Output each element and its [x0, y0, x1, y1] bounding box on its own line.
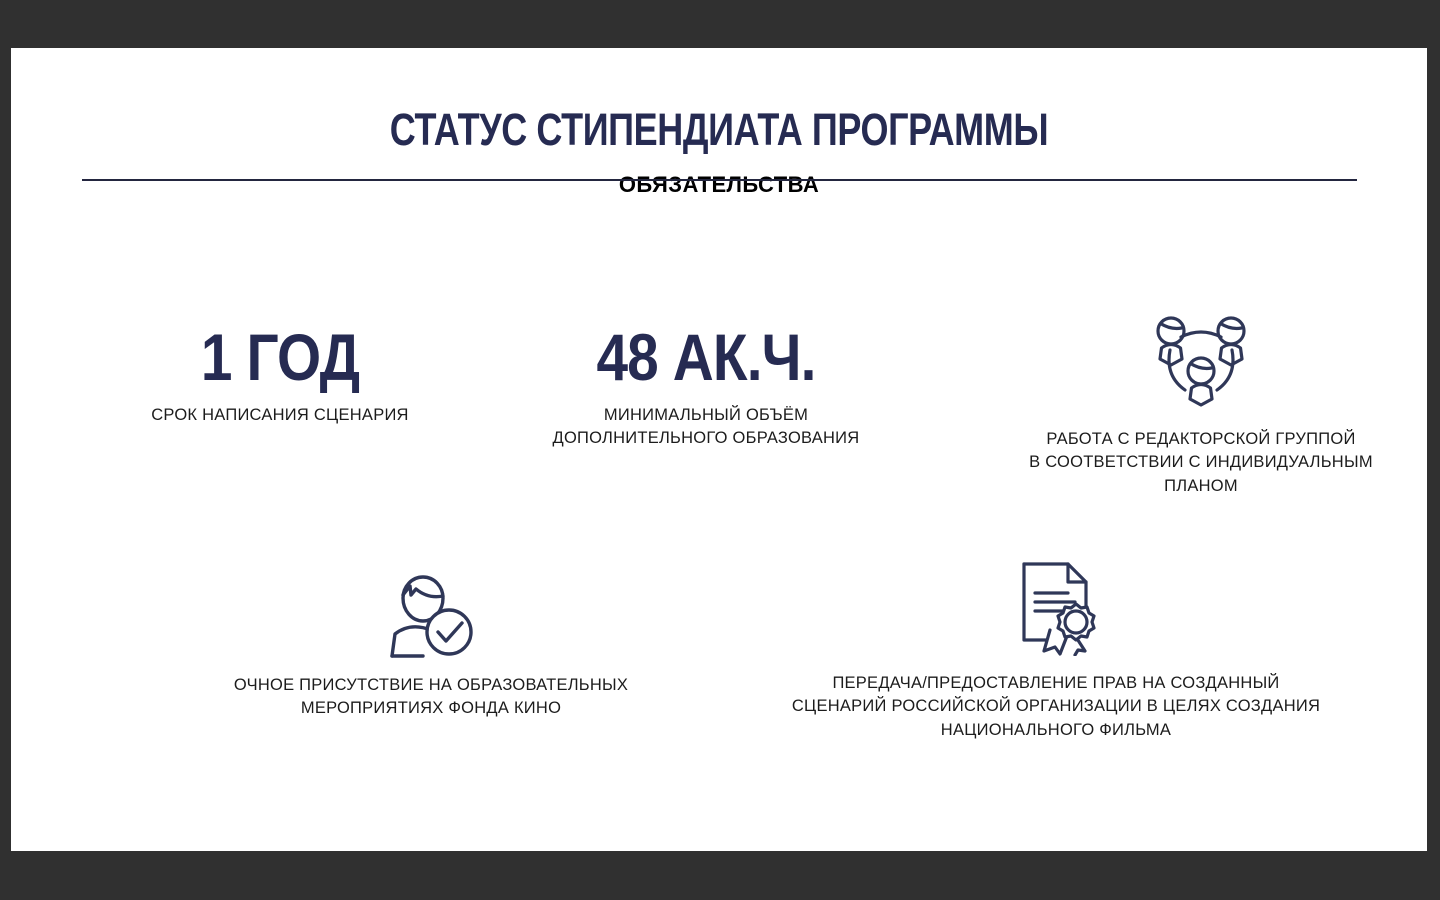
icon-container-editors	[976, 314, 1426, 410]
slide-canvas: СТАТУС СТИПЕНДИАТА ПРОГРАММЫ ОБЯЗАТЕЛЬСТ…	[11, 48, 1427, 851]
title-divider	[82, 179, 1357, 181]
stat-caption-hours: МИНИМАЛЬНЫЙ ОБЪЁМ ДОПОЛНИТЕЛЬНОГО ОБРАЗО…	[476, 404, 936, 451]
stat-value-term: 1 ГОД	[91, 324, 469, 390]
icon-container-rights	[741, 558, 1371, 656]
certificate-icon	[1010, 558, 1102, 656]
section-subtitle: ОБЯЗАТЕЛЬСТВА	[11, 172, 1427, 198]
page-title: СТАТУС СТИПЕНДИАТА ПРОГРАММЫ	[153, 107, 1286, 152]
stat-card-hours: 48 АК.Ч. МИНИМАЛЬНЫЙ ОБЪЁМ ДОПОЛНИТЕЛЬНО…	[476, 324, 936, 451]
stat-caption-term: СРОК НАПИСАНИЯ СЦЕНАРИЯ	[60, 404, 500, 427]
stat-caption-editors: РАБОТА С РЕДАКТОРСКОЙ ГРУППОЙ В СООТВЕТС…	[976, 428, 1426, 498]
slide-header: СТАТУС СТИПЕНДИАТА ПРОГРАММЫ ОБЯЗАТЕЛЬСТ…	[11, 48, 1427, 198]
people-group-icon	[1142, 314, 1260, 410]
stat-card-attendance: ОЧНОЕ ПРИСУТСТВИЕ НА ОБРАЗОВАТЕЛЬНЫХ МЕР…	[201, 566, 661, 721]
person-check-icon	[383, 566, 479, 658]
stat-card-editors: РАБОТА С РЕДАКТОРСКОЙ ГРУППОЙ В СООТВЕТС…	[976, 314, 1426, 498]
icon-container-attendance	[201, 566, 661, 658]
stat-card-rights: ПЕРЕДАЧА/ПРЕДОСТАВЛЕНИЕ ПРАВ НА СОЗДАННЫ…	[741, 558, 1371, 742]
stat-caption-rights: ПЕРЕДАЧА/ПРЕДОСТАВЛЕНИЕ ПРАВ НА СОЗДАННЫ…	[741, 672, 1371, 742]
stat-caption-attendance: ОЧНОЕ ПРИСУТСТВИЕ НА ОБРАЗОВАТЕЛЬНЫХ МЕР…	[201, 674, 661, 721]
stat-card-term: 1 ГОД СРОК НАПИСАНИЯ СЦЕНАРИЯ	[60, 324, 500, 427]
stat-value-hours: 48 АК.Ч.	[508, 324, 904, 390]
